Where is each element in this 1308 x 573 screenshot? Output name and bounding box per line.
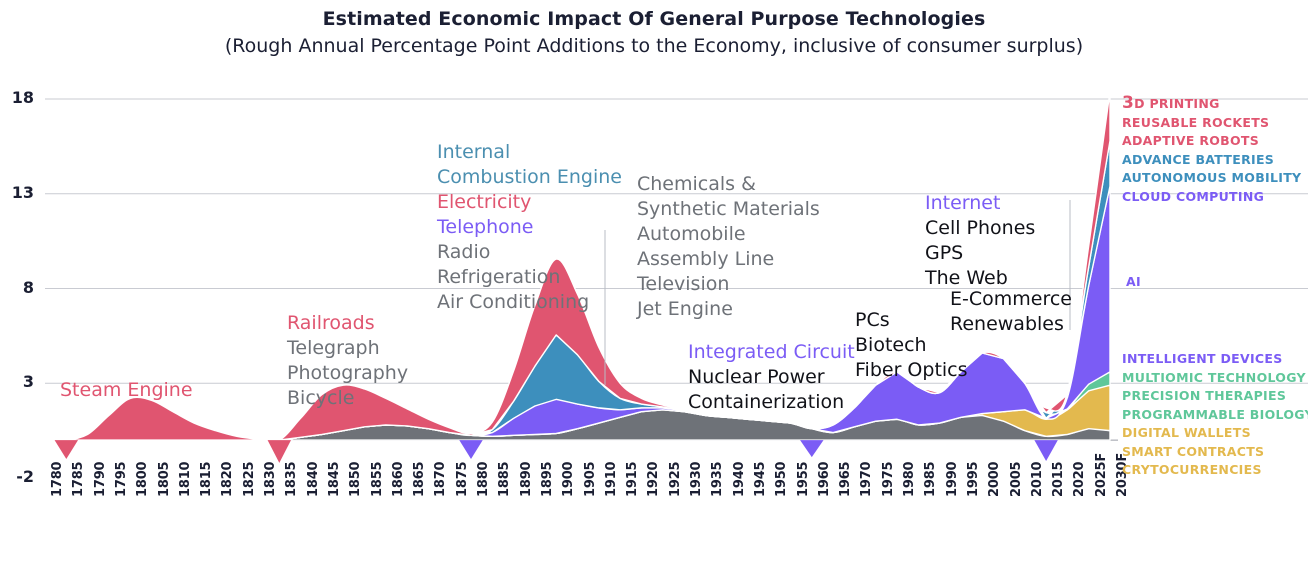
x-axis-tick: 1905 (583, 462, 598, 497)
x-axis: 1780178517901795180018051810181518201825… (0, 489, 1308, 573)
x-axis-tick: 1970 (859, 462, 874, 497)
legend-item: PRECISION THERAPIES (1122, 387, 1308, 406)
x-axis-tick: 1840 (306, 462, 321, 497)
legend-ai-label: AI (1126, 274, 1141, 289)
x-axis-tick: 1860 (391, 462, 406, 497)
x-axis-tick: 1950 (774, 462, 789, 497)
legend-item: ADAPTIVE ROBOTS (1122, 132, 1301, 151)
y-axis-tick: 13 (0, 183, 34, 202)
annotation-line: Renewables (950, 312, 1072, 337)
legend-item: CRYTOCURRENCIES (1122, 461, 1308, 480)
annotation-chemicals: Chemicals &Synthetic MaterialsAutomobile… (637, 172, 820, 322)
legend-item: CLOUD COMPUTING (1122, 188, 1301, 207)
x-axis-tick: 1955 (796, 462, 811, 497)
annotation-line: Electricity (437, 190, 622, 215)
annotation-steam: Steam Engine (60, 378, 193, 403)
negative-dip (800, 440, 823, 457)
x-axis-tick: 2015 (1051, 462, 1066, 497)
x-axis-tick: 1880 (476, 462, 491, 497)
x-axis-tick: 1935 (710, 462, 725, 497)
annotation-line: Bicycle (287, 386, 408, 411)
negative-dip (459, 440, 482, 459)
x-axis-tick: 1780 (50, 462, 65, 497)
annotation-line: Air Conditioning (437, 290, 622, 315)
annotation-line: Television (637, 272, 820, 297)
x-axis-tick: 1985 (923, 462, 938, 497)
x-axis-tick: 2000 (987, 462, 1002, 497)
x-axis-tick: 1865 (412, 462, 427, 497)
legend-top: 3D PRINTINGREUSABLE ROCKETSADAPTIVE ROBO… (1122, 94, 1301, 206)
legend-item: PROGRAMMABLE BIOLOGY (1122, 406, 1308, 425)
x-axis-tick: 1790 (93, 462, 108, 497)
x-axis-tick: 1800 (135, 462, 150, 497)
legend-item: SMART CONTRACTS (1122, 443, 1308, 462)
title-block: Estimated Economic Impact Of General Pur… (0, 0, 1308, 60)
negative-dip (268, 440, 291, 463)
annotation-line: Internet (925, 191, 1035, 216)
annotation-electricity: InternalCombustion EngineElectricityTele… (437, 140, 622, 315)
negative-dip (55, 440, 78, 459)
legend-item: 3D PRINTING (1122, 94, 1301, 114)
x-axis-tick: 1910 (604, 462, 619, 497)
legend-item: AUTONOMOUS MOBILITY (1122, 169, 1301, 188)
annotation-line: Containerization (688, 390, 855, 415)
y-axis-tick: 18 (0, 88, 34, 107)
annotation-line: Refrigeration (437, 265, 622, 290)
y-axis-tick: 3 (0, 372, 34, 391)
x-axis-tick: 2010 (1030, 462, 1045, 497)
x-axis-tick: 1930 (689, 462, 704, 497)
x-axis-tick: 1835 (284, 462, 299, 497)
annotation-internet: InternetCell PhonesGPSThe Web (925, 191, 1035, 291)
x-axis-tick: 1965 (838, 462, 853, 497)
x-axis-tick: 1855 (370, 462, 385, 497)
annotation-line: Photography (287, 361, 408, 386)
annotation-line: Telephone (437, 215, 622, 240)
x-axis-tick: 1990 (945, 462, 960, 497)
annotation-line: E-Commerce (950, 287, 1072, 312)
x-axis-tick: 1995 (966, 462, 981, 497)
annotation-line: Cell Phones (925, 216, 1035, 241)
legend-item-lead: 3 (1122, 93, 1134, 113)
x-axis-tick: 1960 (817, 462, 832, 497)
legend-bottom: INTELLIGENT DEVICESMULTIOMIC TECHNOLOGYP… (1122, 350, 1308, 480)
x-axis-tick: 1785 (71, 462, 86, 497)
x-axis-tick: 1815 (199, 462, 214, 497)
legend-item: ADVANCE BATTERIES (1122, 151, 1301, 170)
annotation-line: Combustion Engine (437, 165, 622, 190)
annotation-line: Radio (437, 240, 622, 265)
x-axis-tick: 1820 (220, 462, 235, 497)
x-axis-tick: 1900 (561, 462, 576, 497)
x-axis-tick: 1805 (157, 462, 172, 497)
annotation-line: Nuclear Power (688, 365, 855, 390)
x-axis-tick: 1975 (881, 462, 896, 497)
annotation-line: Internal (437, 140, 622, 165)
legend-item: INTELLIGENT DEVICES (1122, 350, 1308, 369)
annotation-line: Automobile (637, 222, 820, 247)
legend-item: DIGITAL WALLETS (1122, 424, 1308, 443)
x-axis-tick: 1870 (433, 462, 448, 497)
x-axis-tick: 1925 (668, 462, 683, 497)
annotation-line: Jet Engine (637, 297, 820, 322)
chart-subtitle: (Rough Annual Percentage Point Additions… (0, 32, 1308, 60)
negative-dip (1034, 440, 1057, 461)
legend-item: REUSABLE ROCKETS (1122, 114, 1301, 133)
annotation-line: Integrated Circuit (688, 340, 855, 365)
annotation-railroads: RailroadsTelegraphPhotographyBicycle (287, 311, 408, 411)
x-axis-tick: 1890 (519, 462, 534, 497)
page-title: Estimated Economic Impact Of General Pur… (0, 6, 1308, 32)
x-axis-tick: 1885 (497, 462, 512, 497)
x-axis-tick: 2020 (1072, 462, 1087, 497)
annotation-line: Telegraph (287, 336, 408, 361)
annotation-line: Chemicals & (637, 172, 820, 197)
y-axis-tick: -2 (0, 467, 34, 486)
annotation-integrated-circuit: Integrated CircuitNuclear PowerContainer… (688, 340, 855, 415)
legend-item: MULTIOMIC TECHNOLOGY (1122, 369, 1308, 388)
x-axis-tick: 1945 (753, 462, 768, 497)
x-axis-tick: 1875 (455, 462, 470, 497)
x-axis-tick: 1845 (327, 462, 342, 497)
x-axis-tick: 1795 (114, 462, 129, 497)
annotation-line: Synthetic Materials (637, 197, 820, 222)
annotation-line: GPS (925, 241, 1035, 266)
x-axis-tick: 1830 (263, 462, 278, 497)
annotation-line: Steam Engine (60, 378, 193, 403)
x-axis-tick: 1810 (178, 462, 193, 497)
annotation-line: Assembly Line (637, 247, 820, 272)
x-axis-tick: 2025F (1094, 453, 1109, 497)
x-axis-tick: 1940 (732, 462, 747, 497)
x-axis-tick: 1825 (242, 462, 257, 497)
x-axis-tick: 1980 (902, 462, 917, 497)
x-axis-tick: 2005 (1009, 462, 1024, 497)
x-axis-tick: 1920 (646, 462, 661, 497)
x-axis-tick: 1895 (540, 462, 555, 497)
y-axis-tick: 8 (0, 278, 34, 297)
x-axis-tick: 1850 (348, 462, 363, 497)
x-axis-tick: 1915 (625, 462, 640, 497)
annotation-line: Railroads (287, 311, 408, 336)
annotation-line: Fiber Optics (855, 358, 968, 383)
annotation-ecommerce: E-CommerceRenewables (950, 287, 1072, 337)
